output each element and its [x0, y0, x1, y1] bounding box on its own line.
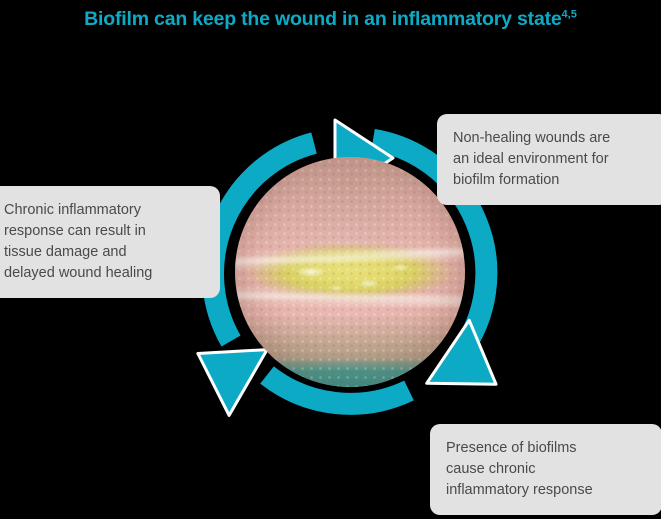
photograph-vignette [235, 157, 465, 387]
callout-line: Chronic inflammatory [4, 200, 204, 221]
callout-chronic-inflammatory-response: Chronic inflammatory response can result… [0, 186, 220, 298]
callout-line: cause chronic [446, 459, 646, 480]
page-title: Biofilm can keep the wound in an inflamm… [0, 8, 661, 31]
page-title-superscript: 4,5 [562, 9, 577, 21]
callout-line: response can result in [4, 221, 204, 242]
callout-line: inflammatory response [446, 480, 646, 501]
callout-non-healing-wounds: Non-healing wounds are an ideal environm… [437, 114, 661, 205]
callout-line: biofilm formation [453, 170, 653, 191]
callout-line: Non-healing wounds are [453, 128, 653, 149]
callout-line: Presence of biofilms [446, 438, 646, 459]
wound-photograph [235, 157, 465, 387]
callout-line: tissue damage and [4, 242, 204, 263]
callout-line: an ideal environment for [453, 149, 653, 170]
callout-line: delayed wound healing [4, 263, 204, 284]
callout-presence-of-biofilms: Presence of biofilms cause chronic infla… [430, 424, 661, 515]
infographic-canvas: Biofilm can keep the wound in an inflamm… [0, 0, 661, 519]
page-title-text: Biofilm can keep the wound in an inflamm… [84, 8, 561, 30]
